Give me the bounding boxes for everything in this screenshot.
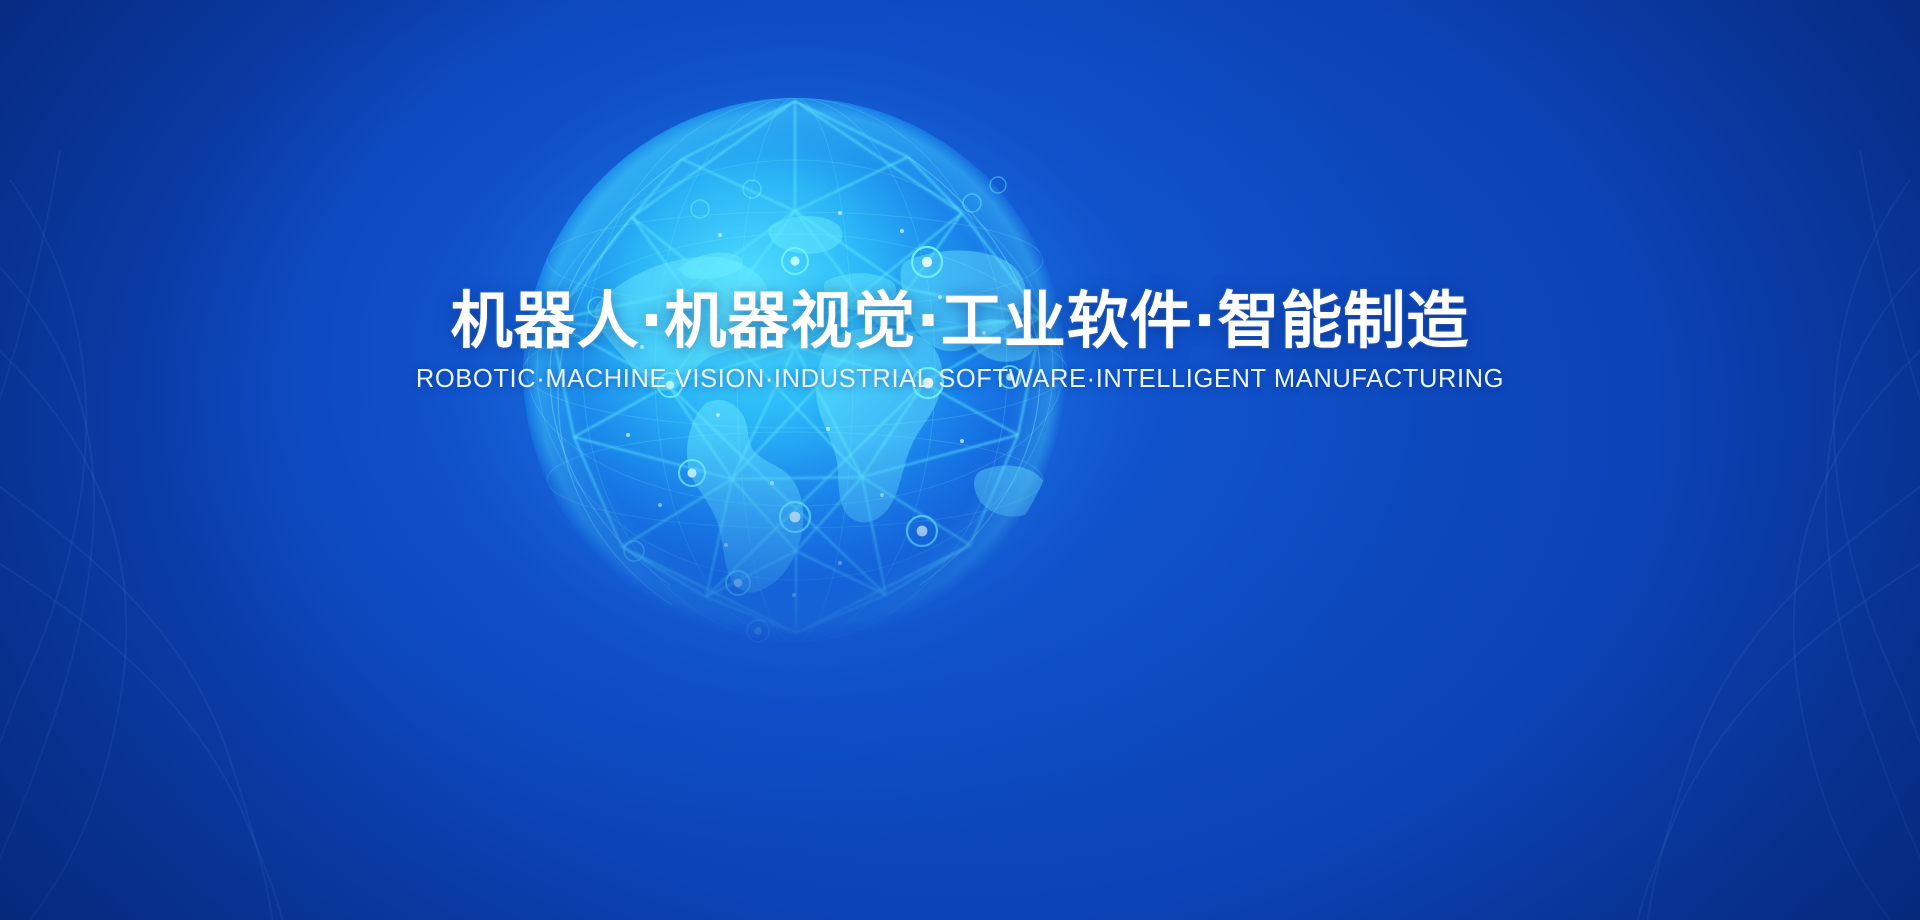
hero-banner: 机器人·机器视觉·工业软件·智能制造 ROBOTIC·MACHINE VISIO… [0, 0, 1920, 920]
banner-text-block: 机器人·机器视觉·工业软件·智能制造 ROBOTIC·MACHINE VISIO… [0, 286, 1920, 394]
page-title: 机器人·机器视觉·工业软件·智能制造 [0, 286, 1920, 355]
page-subtitle: ROBOTIC·MACHINE VISION·INDUSTRIAL SOFTWA… [0, 365, 1920, 394]
